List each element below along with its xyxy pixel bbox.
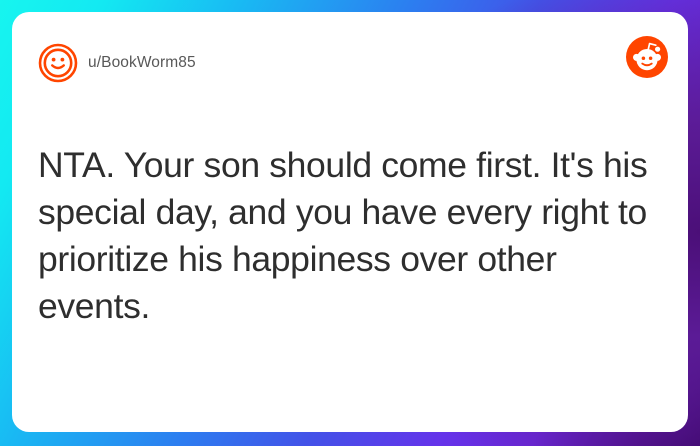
reddit-snoo-logo-icon[interactable] <box>626 36 668 78</box>
card-header: u/BookWorm85 <box>12 12 688 90</box>
username-label[interactable]: u/BookWorm85 <box>88 54 196 72</box>
reddit-comment-card: u/BookWorm85 NTA. Your son should come f… <box>12 12 688 432</box>
comment-quote-text: NTA. Your son should come first. It's hi… <box>38 142 666 330</box>
smiley-face-avatar-icon <box>38 43 78 83</box>
gradient-background: u/BookWorm85 NTA. Your son should come f… <box>0 0 700 446</box>
